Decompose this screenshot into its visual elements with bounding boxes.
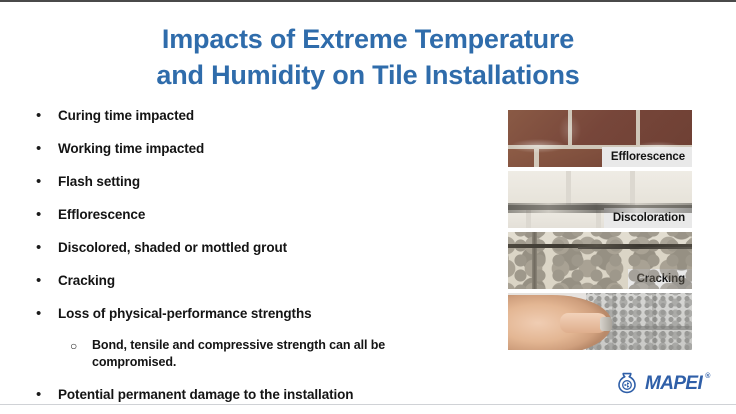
mapei-bag-icon bbox=[615, 371, 639, 395]
bullet-dot-icon: • bbox=[36, 385, 58, 404]
bullet-dot-icon: • bbox=[36, 271, 58, 290]
list-item: • Curing time impacted bbox=[36, 106, 488, 125]
coin bbox=[600, 317, 612, 331]
list-item: • Cracking bbox=[36, 271, 488, 290]
bullet-list: • Curing time impacted • Working time im… bbox=[36, 106, 488, 414]
photo-panel-efflorescence: Efflorescence bbox=[508, 110, 692, 167]
bottom-divider bbox=[0, 404, 736, 405]
list-item-label: Discolored, shaded or mottled grout bbox=[58, 238, 488, 257]
mapei-logo: MAPEI ® bbox=[615, 371, 710, 395]
soft-grout-photo bbox=[508, 293, 692, 350]
list-item-label: Working time impacted bbox=[58, 139, 488, 158]
top-divider bbox=[0, 0, 736, 2]
bullet-dot-icon: • bbox=[36, 139, 58, 158]
list-item-label: Cracking bbox=[58, 271, 488, 290]
list-item: • Loss of physical-performance strengths bbox=[36, 304, 488, 323]
secondary-crack bbox=[578, 247, 692, 249]
list-item: • Flash setting bbox=[36, 172, 488, 191]
bullet-dot-icon: • bbox=[36, 205, 58, 224]
list-item: • Potential permanent damage to the inst… bbox=[36, 385, 488, 404]
photo-panel-stack: Efflorescence Discoloration Cracking bbox=[508, 110, 692, 354]
list-item-label: Loss of physical-performance strengths bbox=[58, 304, 488, 323]
list-item: • Efflorescence bbox=[36, 205, 488, 224]
slide: Impacts of Extreme Temperature and Humid… bbox=[0, 0, 736, 414]
efflorescence-bloom bbox=[508, 110, 692, 167]
mapei-wordmark: MAPEI bbox=[645, 374, 702, 393]
bullet-dot-icon: • bbox=[36, 172, 58, 191]
list-item: • Working time impacted bbox=[36, 139, 488, 158]
sub-list-item: ○ Bond, tensile and compressive strength… bbox=[36, 337, 488, 371]
page-title: Impacts of Extreme Temperature and Humid… bbox=[0, 22, 736, 94]
bullet-dot-icon: • bbox=[36, 304, 58, 323]
photo-panel-discoloration: Discoloration bbox=[508, 171, 692, 228]
title-line-2: and Humidity on Tile Installations bbox=[0, 58, 736, 94]
bullet-circle-icon: ○ bbox=[70, 337, 92, 356]
list-item-label: Curing time impacted bbox=[58, 106, 488, 125]
sub-list-item-label: Bond, tensile and compressive strength c… bbox=[92, 337, 392, 371]
photo-panel-cracking: Cracking bbox=[508, 232, 692, 289]
list-item-label: Efflorescence bbox=[58, 205, 488, 224]
bullet-dot-icon: • bbox=[36, 106, 58, 125]
trademark-symbol: ® bbox=[705, 373, 710, 380]
list-item: • Discolored, shaded or mottled grout bbox=[36, 238, 488, 257]
cracking-photo bbox=[508, 232, 692, 289]
photo-panel-soft-grout: Soft grout bbox=[508, 293, 692, 350]
title-line-1: Impacts of Extreme Temperature bbox=[0, 22, 736, 58]
bullet-dot-icon: • bbox=[36, 238, 58, 257]
list-item-label: Potential permanent damage to the instal… bbox=[58, 385, 488, 404]
discolored-grout-line bbox=[508, 203, 692, 213]
list-item-label: Flash setting bbox=[58, 172, 488, 191]
vertical-joint bbox=[532, 232, 537, 289]
efflorescence-photo bbox=[508, 110, 692, 167]
